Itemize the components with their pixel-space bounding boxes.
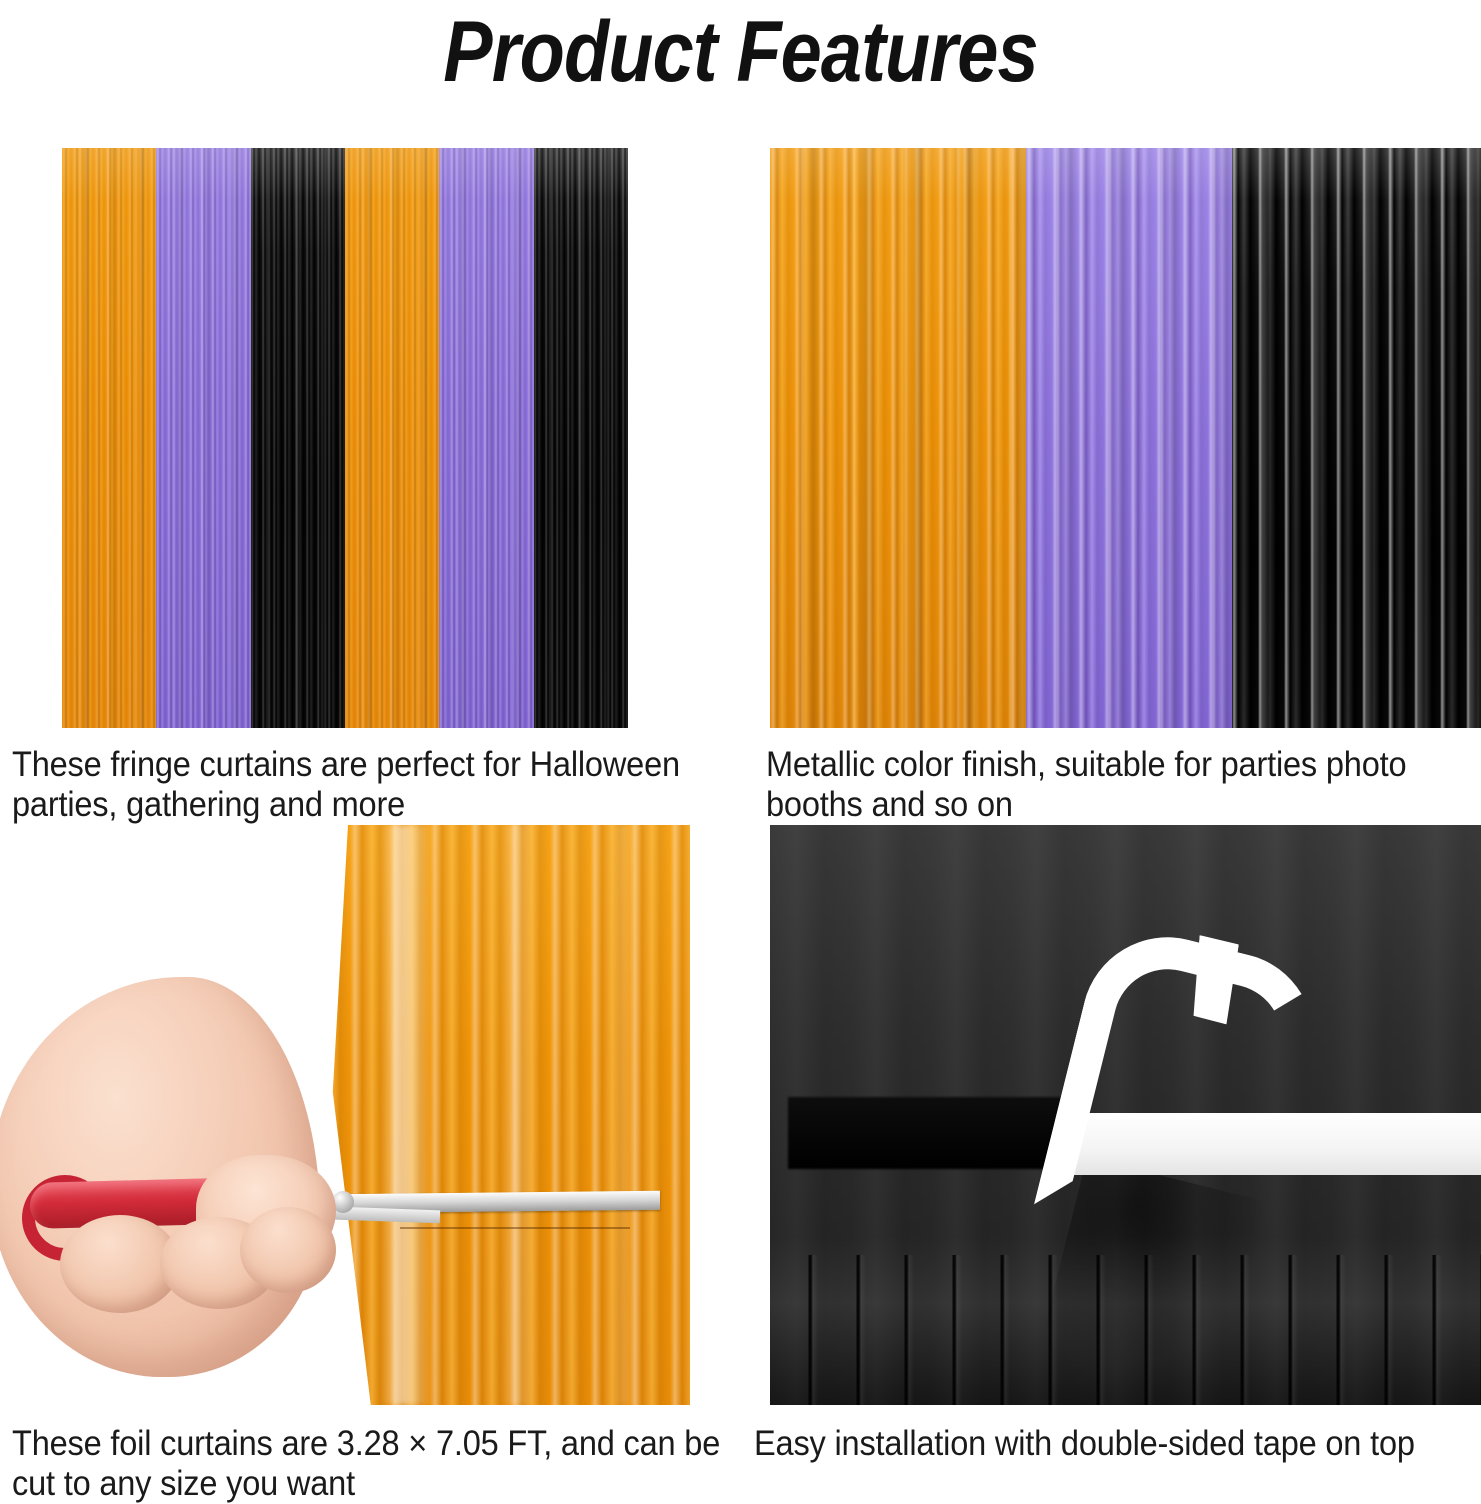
foil-highlight [380, 825, 434, 1405]
feature-caption-double-sided-tape: Easy installation with double-sided tape… [754, 1424, 1481, 1464]
foil-highlight [612, 825, 640, 1405]
curtain-band-orange [62, 148, 156, 728]
fringe-strand-overlay [534, 148, 628, 728]
curtain-band-black [251, 148, 345, 728]
feature-image-cut-to-size [0, 825, 690, 1405]
fringe-strand-overlay [156, 148, 250, 728]
foil-highlight [500, 825, 534, 1405]
black-curtain-with-tape-scene [770, 825, 1481, 1405]
fringe-cut-strips [770, 1255, 1481, 1405]
fringe-strand-overlay [345, 148, 439, 728]
finger [240, 1207, 336, 1293]
fringe-strand-overlay [439, 148, 533, 728]
feature-image-double-sided-tape [770, 825, 1481, 1405]
curtain-band-orange [770, 148, 1026, 728]
curtain-band-row [62, 148, 628, 728]
fringe-strand-overlay [1026, 148, 1232, 728]
fringe-strand-overlay [770, 148, 1026, 728]
feature-caption-cut-to-size: These foil curtains are 3.28 × 7.05 FT, … [12, 1424, 747, 1504]
feature-caption-metallic-finish-closeup: Metallic color finish, suitable for part… [766, 745, 1481, 825]
curtain-band-purple [156, 148, 250, 728]
page-title: Product Features [104, 2, 1378, 102]
feature-image-fringe-curtains-overview [62, 148, 628, 728]
cut-line [400, 1227, 630, 1229]
scissors-cutting-scene [0, 825, 690, 1405]
curtain-band-black [534, 148, 628, 728]
fringe-strand-overlay [1232, 148, 1481, 728]
fringe-strand-overlay [251, 148, 345, 728]
curtain-top-seam [788, 1097, 1078, 1169]
curtain-band-black [1232, 148, 1481, 728]
fringe-strand-overlay [62, 148, 156, 728]
feature-caption-fringe-curtains-overview: These fringe curtains are perfect for Ha… [12, 745, 747, 825]
curtain-band-purple [439, 148, 533, 728]
curtain-band-orange [345, 148, 439, 728]
feature-image-metallic-finish-closeup [770, 148, 1481, 728]
curtain-band-row [770, 148, 1481, 728]
curtain-band-purple [1026, 148, 1232, 728]
